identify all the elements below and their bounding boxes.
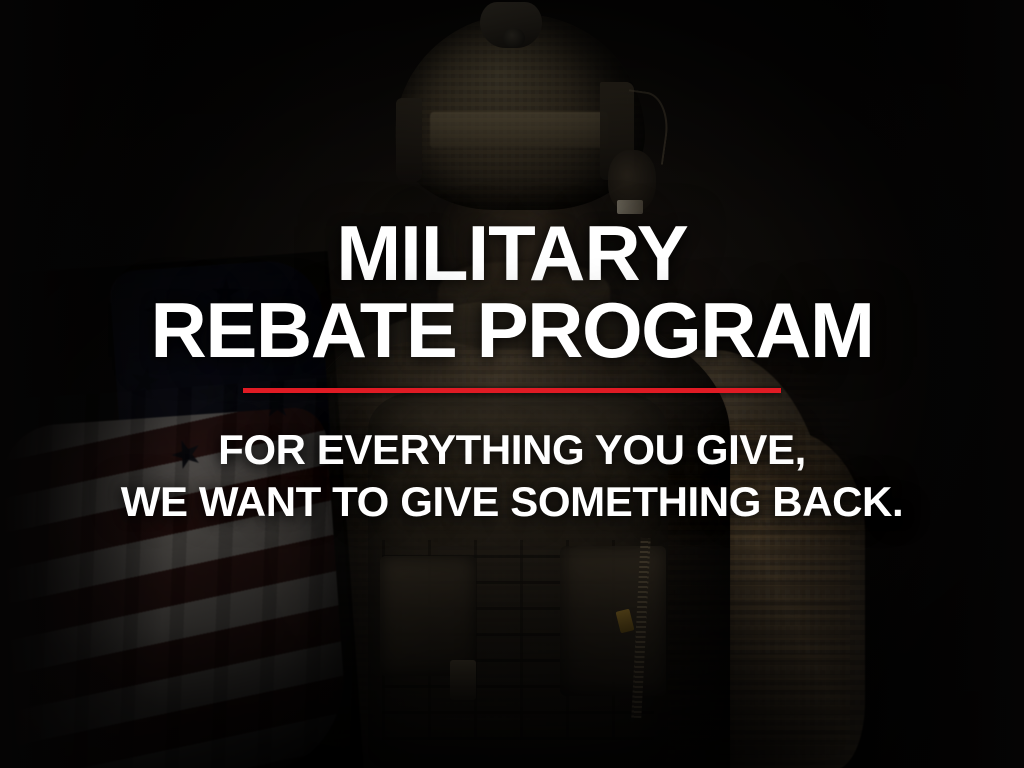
- promo-slide: MILITARY REBATE PROGRAM FOR EVERYTHING Y…: [0, 0, 1024, 768]
- page-title: MILITARY REBATE PROGRAM: [151, 215, 874, 369]
- page-subtitle: FOR EVERYTHING YOU GIVE, WE WANT TO GIVE…: [121, 424, 904, 526]
- text-content: MILITARY REBATE PROGRAM FOR EVERYTHING Y…: [0, 0, 1024, 768]
- red-rule-divider: [243, 388, 781, 393]
- subhead-line-2: WE WANT TO GIVE SOMETHING BACK.: [121, 476, 904, 527]
- headline-line-1: MILITARY: [151, 215, 874, 292]
- headline-line-2: REBATE PROGRAM: [151, 292, 874, 369]
- subhead-line-1: FOR EVERYTHING YOU GIVE,: [121, 424, 904, 475]
